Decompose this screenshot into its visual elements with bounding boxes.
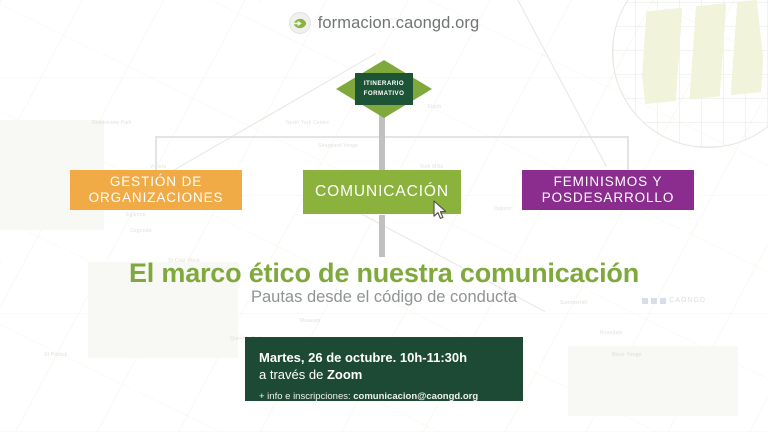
connector-horizontal xyxy=(155,136,629,138)
session-channel-prefix: a través de xyxy=(259,367,327,382)
session-contact-prefix: + info e inscripciones: xyxy=(259,391,353,402)
map-label: Osgoode xyxy=(130,228,152,234)
map-label: Museum xyxy=(300,318,320,324)
session-datetime: Martes, 26 de octubre. 10h-11:30h xyxy=(259,349,509,366)
map-label: Downsview Park xyxy=(92,120,132,126)
site-url-label: formacion.caongd.org xyxy=(318,14,480,33)
branch-feminismos-line2: POSDESARROLLO xyxy=(542,190,675,205)
background-blot xyxy=(568,346,738,416)
slide-canvas: Downsview Park North York Centre Sheppar… xyxy=(0,0,768,432)
map-label: Bloor-Yonge xyxy=(612,352,642,358)
branch-comunicacion[interactable]: COMUNICACIÓN xyxy=(303,170,461,214)
session-contact-email[interactable]: comunicacion@caongd.org xyxy=(353,391,478,402)
map-label: St Patrick xyxy=(44,352,67,358)
itinerary-root-line1: ITINERARIO xyxy=(364,80,404,88)
branch-comunicacion-label: COMUNICACIÓN xyxy=(315,183,449,201)
map-label: Rosedale xyxy=(600,330,623,336)
session-title: El marco ético de nuestra comunicación xyxy=(0,258,768,289)
map-label: Sheppard-Yonge xyxy=(318,143,358,149)
session-subtitle: Pautas desde el código de conducta xyxy=(0,288,768,307)
branch-gestion-line2: ORGANIZACIONES xyxy=(89,190,224,205)
map-label: Eglinton xyxy=(126,212,146,218)
itinerary-root-label: ITINERARIO FORMATIVO xyxy=(355,73,413,105)
map-label: Dupont xyxy=(494,206,511,212)
connector-center-bottom xyxy=(379,215,385,257)
brand-header: formacion.caongd.org xyxy=(0,12,768,34)
itinerary-root-line2: FORMATIVO xyxy=(364,90,405,98)
branch-gestion-label: GESTIÓN DE ORGANIZACIONES xyxy=(89,174,224,206)
branch-gestion-line1: GESTIÓN DE xyxy=(110,174,202,189)
map-label: North York Centre xyxy=(286,120,329,126)
session-info-panel: Martes, 26 de octubre. 10h-11:30h a trav… xyxy=(245,337,523,401)
itinerary-root-node[interactable]: ITINERARIO FORMATIVO xyxy=(336,60,432,118)
connector-left-drop xyxy=(155,136,157,170)
branch-feminismos-label: FEMINISMOS Y POSDESARROLLO xyxy=(542,174,675,206)
branch-gestion-organizaciones[interactable]: GESTIÓN DE ORGANIZACIONES xyxy=(70,170,242,210)
branch-feminismos-line1: FEMINISMOS Y xyxy=(554,174,663,189)
branch-feminismos-posdesarrollo[interactable]: FEMINISMOS Y POSDESARROLLO xyxy=(522,170,694,210)
session-contact: + info e inscripciones: comunicacion@cao… xyxy=(259,391,509,402)
session-channel: a través de Zoom xyxy=(259,366,509,383)
session-channel-name: Zoom xyxy=(327,367,362,382)
connector-center-top xyxy=(379,113,385,170)
connector-right-drop xyxy=(627,136,629,170)
leaf-arrow-logo-icon xyxy=(289,12,311,34)
